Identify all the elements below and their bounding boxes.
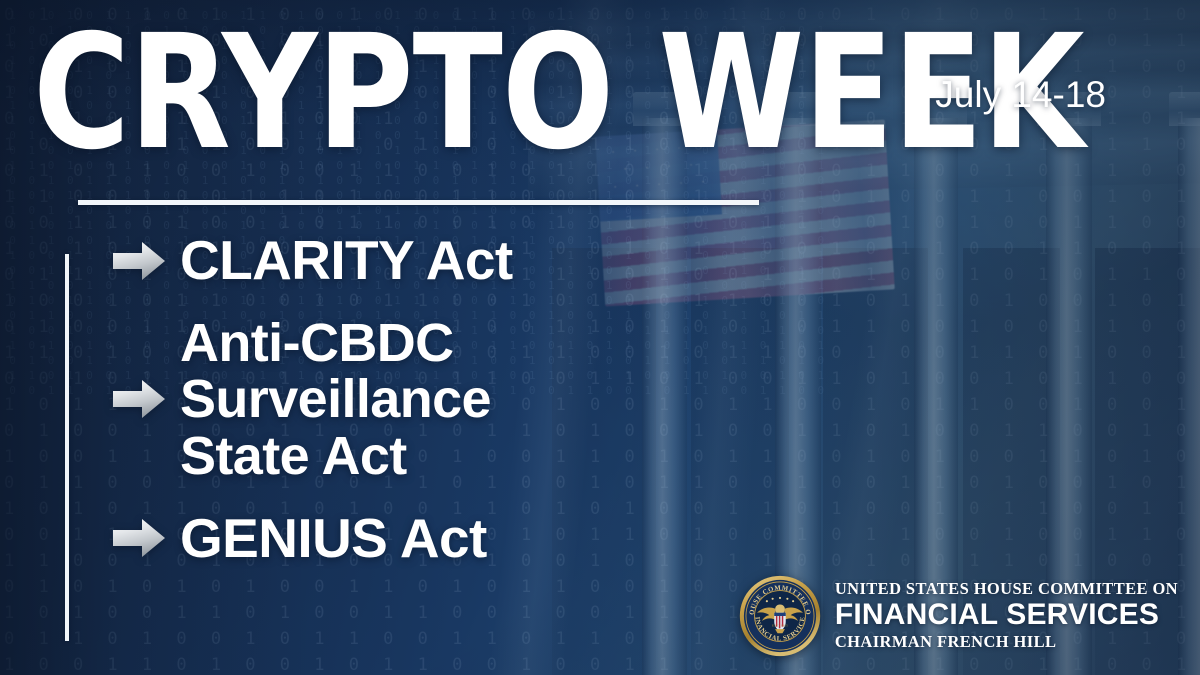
title-divider-rule xyxy=(78,200,759,205)
date-range: July 14-18 xyxy=(935,74,1106,116)
bill-label: GENIUS Act xyxy=(180,510,487,567)
svg-text:EST. 1865: EST. 1865 xyxy=(772,624,788,628)
list-item: CLARITY Act xyxy=(112,232,732,289)
committee-logo-lockup: HOUSE COMMITTEE ON FINANCIAL SERVICES xyxy=(739,575,1178,657)
right-arrow-icon xyxy=(112,516,166,560)
logo-line-financial-services: FINANCIAL SERVICES xyxy=(835,599,1178,631)
bill-label: Anti-CBDC Surveillance State Act xyxy=(180,315,491,483)
vertical-divider-line xyxy=(65,254,69,641)
bill-label: CLARITY Act xyxy=(180,232,513,289)
crypto-week-poster: 0 1 0 0 1 0 1 1 0 0 1 0 0 1 1 0 1 0 0 1 … xyxy=(0,0,1200,675)
house-financial-services-seal-icon: HOUSE COMMITTEE ON FINANCIAL SERVICES xyxy=(739,575,821,657)
committee-logo-text: UNITED STATES HOUSE COMMITTEE ON FINANCI… xyxy=(835,580,1178,651)
page-title: CRYPTO WEEK xyxy=(33,14,777,172)
list-item: GENIUS Act xyxy=(112,510,732,567)
right-arrow-icon xyxy=(112,377,166,421)
bill-list: CLARITY Act Anti-CBDC Surveillance State… xyxy=(112,232,732,567)
logo-line-committee: UNITED STATES HOUSE COMMITTEE ON xyxy=(835,580,1178,599)
list-item: Anti-CBDC Surveillance State Act xyxy=(112,315,732,483)
right-arrow-icon xyxy=(112,239,166,283)
logo-line-chairman: CHAIRMAN FRENCH HILL xyxy=(835,632,1178,652)
